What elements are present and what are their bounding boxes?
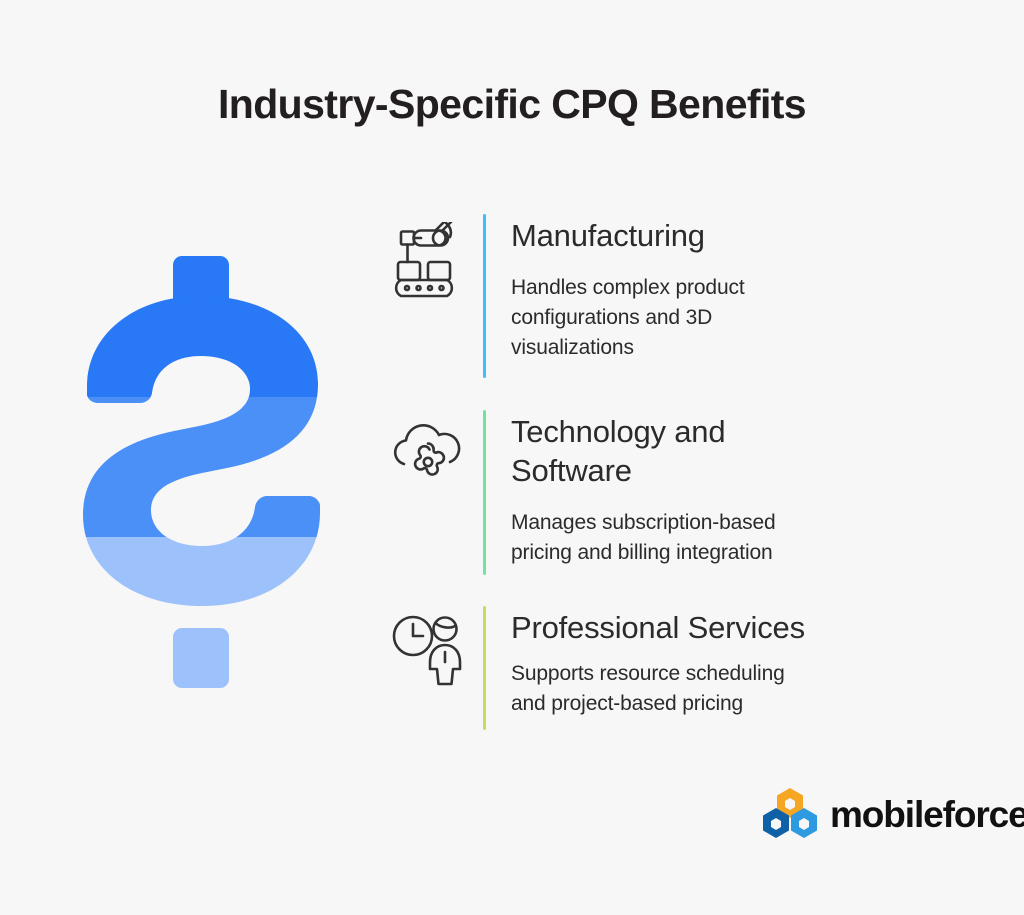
cloud-gear-icon xyxy=(392,410,470,490)
benefit-accent-divider xyxy=(483,214,486,378)
benefit-description: Manages subscription-based pricing and b… xyxy=(511,508,776,568)
benefit-item-professional-services: Professional Services Supports resource … xyxy=(392,606,805,730)
benefit-description: Supports resource scheduling and project… xyxy=(511,659,805,719)
benefit-text-block: Technology and Software Manages subscrip… xyxy=(511,410,776,568)
benefit-accent-divider xyxy=(483,606,486,730)
mobileforce-logo-mark xyxy=(759,787,821,841)
clock-person-icon xyxy=(392,606,470,686)
benefit-item-technology-and-software: Technology and Software Manages subscrip… xyxy=(392,410,776,575)
benefit-accent-divider xyxy=(483,410,486,575)
benefit-heading: Manufacturing xyxy=(511,216,745,255)
benefit-heading: Professional Services xyxy=(511,608,805,647)
benefit-heading: Technology and Software xyxy=(511,412,776,490)
dollar-sign-graphic xyxy=(72,256,330,688)
benefit-description: Handles complex product configurations a… xyxy=(511,273,745,363)
mobileforce-wordmark: mobileforce xyxy=(830,796,1024,833)
factory-robot-conveyor-icon xyxy=(392,214,470,298)
infographic-canvas: Industry-Specific CPQ Benefits xyxy=(0,0,1024,915)
benefit-text-block: Professional Services Supports resource … xyxy=(511,606,805,719)
mobileforce-logo: mobileforce xyxy=(759,787,1024,841)
page-title: Industry-Specific CPQ Benefits xyxy=(0,82,1024,127)
benefit-text-block: Manufacturing Handles complex product co… xyxy=(511,214,745,363)
benefit-item-manufacturing: Manufacturing Handles complex product co… xyxy=(392,214,745,378)
